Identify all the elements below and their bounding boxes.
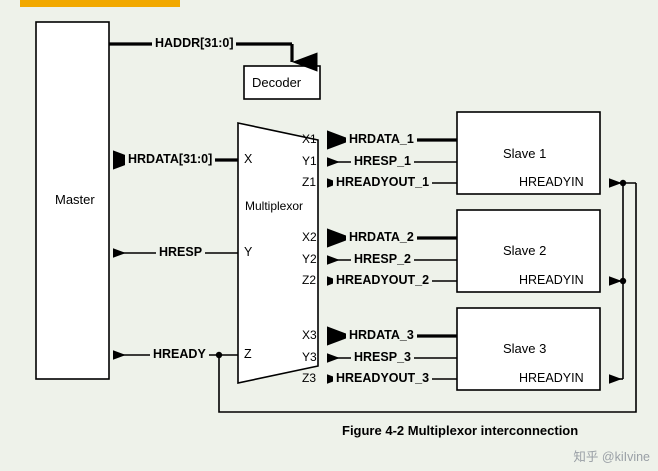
signal-hresp-3: HRESP_3 bbox=[351, 350, 414, 364]
mux-port-z3: Z3 bbox=[302, 371, 316, 385]
mux-port-z: Z bbox=[244, 347, 252, 361]
figure-canvas: Master Decoder Multiplexor Slave 1 Slave… bbox=[0, 0, 658, 471]
mux-port-x3: X3 bbox=[302, 328, 317, 342]
signal-hresp-1: HRESP_1 bbox=[351, 154, 414, 168]
watermark: 知乎 @kiIvine bbox=[573, 446, 650, 465]
mux-port-x1: X1 bbox=[302, 132, 317, 146]
signal-hreadyin-1: HREADYIN bbox=[519, 175, 584, 189]
multiplexor-label: Multiplexor bbox=[245, 199, 303, 213]
mux-port-y2: Y2 bbox=[302, 252, 317, 266]
signal-hrdata-2: HRDATA_2 bbox=[346, 230, 417, 244]
diagram-svg bbox=[0, 0, 658, 471]
decoder-label: Decoder bbox=[252, 75, 301, 90]
signal-hresp-2: HRESP_2 bbox=[351, 252, 414, 266]
slave2-label: Slave 2 bbox=[503, 243, 546, 258]
signal-hrdata: HRDATA[31:0] bbox=[125, 152, 215, 166]
signal-hreadyin-3: HREADYIN bbox=[519, 371, 584, 385]
mux-port-z2: Z2 bbox=[302, 273, 316, 287]
signal-hready: HREADY bbox=[150, 347, 209, 361]
mux-port-x: X bbox=[244, 152, 252, 166]
mux-port-y1: Y1 bbox=[302, 154, 317, 168]
signal-hreadyout-2: HREADYOUT_2 bbox=[333, 273, 432, 287]
master-label: Master bbox=[55, 192, 95, 207]
signal-hresp: HRESP bbox=[156, 245, 205, 259]
signal-hrdata-1: HRDATA_1 bbox=[346, 132, 417, 146]
signal-hreadyout-3: HREADYOUT_3 bbox=[333, 371, 432, 385]
mux-port-y3: Y3 bbox=[302, 350, 317, 364]
signal-haddr: HADDR[31:0] bbox=[152, 36, 236, 50]
signal-hreadyout-1: HREADYOUT_1 bbox=[333, 175, 432, 189]
signal-hreadyin-2: HREADYIN bbox=[519, 273, 584, 287]
figure-caption: Figure 4-2 Multiplexor interconnection bbox=[342, 423, 578, 438]
mux-port-z1: Z1 bbox=[302, 175, 316, 189]
mux-port-x2: X2 bbox=[302, 230, 317, 244]
slave3-label: Slave 3 bbox=[503, 341, 546, 356]
slave1-label: Slave 1 bbox=[503, 146, 546, 161]
mux-port-y: Y bbox=[244, 245, 252, 259]
signal-hrdata-3: HRDATA_3 bbox=[346, 328, 417, 342]
